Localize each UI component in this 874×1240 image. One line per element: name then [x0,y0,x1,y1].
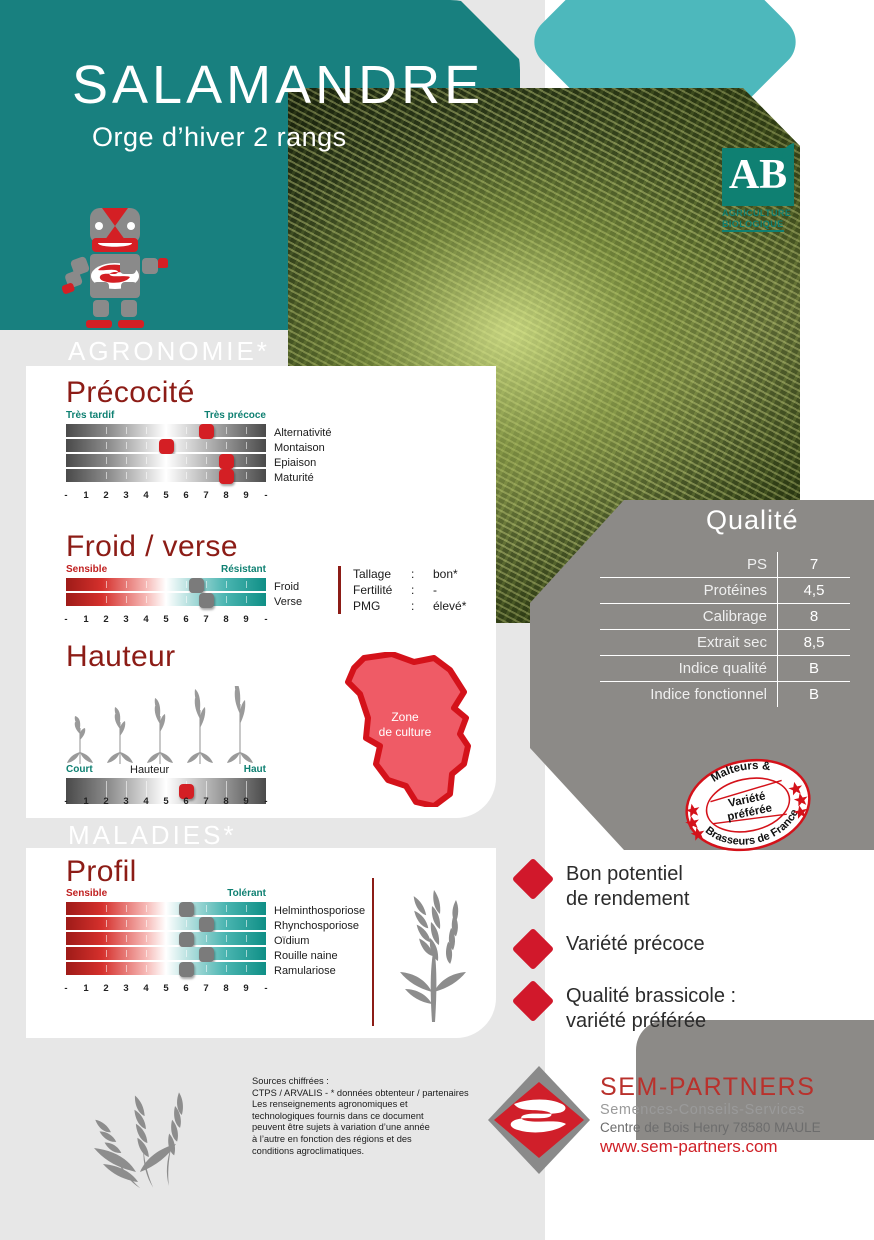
scale-row-label: Alternativité [274,426,331,441]
precocite-scale: Très tardif Très précoce -123456789- Alt… [66,410,266,484]
scale-number: 9 [243,796,248,807]
scale-ticks [66,424,266,437]
map-label-line1: Zone [355,710,455,725]
sources-line: Sources chiffrées : [252,1076,488,1088]
profil-endlabels: Sensible Tolérant [66,888,266,902]
profil-labels: HelminthosporioseRhynchosporioseOïdiumRo… [274,904,365,979]
hauteur-endlabels: Court Haut Hauteur [66,764,266,778]
scale-number: 3 [123,614,128,625]
froid-verse-end-right: Résistant [221,564,266,575]
scale-ticks [66,593,266,606]
page-title: SALAMANDRE [72,58,484,112]
scale-number: 8 [223,796,228,807]
key-points-list: Bon potentielde rendementVariété précoce… [518,862,848,1054]
froid-verse-rows [66,578,266,606]
scale-ticks [66,932,266,945]
scale-number: 2 [103,983,108,994]
malteurs-brasseurs-seal: Malteurs & Brasseurs de France Variété p… [668,752,828,858]
froid-verse-end-left: Sensible [66,564,107,575]
map-label: Zone de culture [355,710,455,740]
scale-number: 8 [223,614,228,625]
qualite-key: Indice qualité [600,656,777,681]
scale-row [66,932,266,945]
scale-ticks [66,469,266,482]
qualite-value: B [777,656,850,681]
scale-number: 7 [203,614,208,625]
diamond-bullet-icon [512,858,554,900]
scale-number: - [264,983,267,994]
company-address: Centre de Bois Henry 78580 MAULE [600,1119,821,1136]
key-point-text: Variété précoce [566,932,705,957]
footer-wheat-icon [66,1088,232,1188]
scale-number: 4 [143,490,148,501]
sources-line: conditions agroclimatiques. [252,1146,488,1158]
scale-row [66,962,266,975]
scale-row-label: Epiaison [274,456,331,471]
scale-row [66,578,266,591]
info-key: Fertilité [353,582,411,598]
key-point-item: Variété précoce [518,932,848,964]
info-key: Tallage [353,566,411,582]
profil-scale: Sensible Tolérant -123456789- Helminthos… [66,888,266,977]
map-label-line2: de culture [355,725,455,740]
qualite-row: Protéines4,5 [600,578,850,604]
scale-row [66,469,266,482]
froid-verse-labels: FroidVerse [274,580,302,610]
qualite-value: 4,5 [777,578,850,603]
scale-number: - [64,796,67,807]
key-point-text: Bon potentielde rendement [566,862,689,912]
qualite-title: Qualité [706,505,799,536]
scale-number: 6 [183,796,188,807]
scale-marker[interactable] [179,932,194,947]
qualite-value: B [777,682,850,707]
profil-heading: Profil [66,855,137,889]
scale-row-label: Maturité [274,471,331,486]
diamond-bullet-icon [512,928,554,970]
scale-marker[interactable] [199,917,214,932]
scale-row [66,947,266,960]
scale-number: 4 [143,796,148,807]
info-key: PMG [353,598,411,614]
company-name: SEM-PARTNERS [600,1074,821,1101]
scale-ticks [66,947,266,960]
page-subtitle: Orge d’hiver 2 rangs [92,122,347,153]
wheat-height-scale-icon [62,686,262,764]
leaf-icon [769,142,795,160]
scale-marker[interactable] [159,439,174,454]
qualite-row: Extrait sec8,5 [600,630,850,656]
qualite-key: Calibrage [600,604,777,629]
scale-row-label: Rhynchosporiose [274,919,365,934]
info-sep: : [411,598,433,614]
info-value: élevé* [433,599,466,613]
scale-number: 2 [103,796,108,807]
scale-number: 8 [223,983,228,994]
scale-number: - [264,796,267,807]
profil-end-right: Tolérant [227,888,266,899]
sem-partners-text-block: SEM-PARTNERS Semences-Conseils-Services … [600,1074,821,1157]
profil-end-left: Sensible [66,888,107,899]
agronomy-info-list: Tallage:bon*Fertilité:-PMG:élevé* [338,566,466,614]
hauteur-end-left: Court [66,764,93,775]
hauteur-end-center: Hauteur [130,764,169,776]
scale-number: 1 [83,490,88,501]
ab-logo-caption: AGRICULTURE BIOLOGIQUE [722,208,808,232]
scale-row [66,439,266,452]
scale-number: 9 [243,614,248,625]
scale-row-label: Oïdium [274,934,365,949]
scale-marker[interactable] [199,424,214,439]
scale-row-label: Montaison [274,441,331,456]
scale-ticks [66,454,266,467]
qualite-row: Calibrage8 [600,604,850,630]
hauteur-end-right: Haut [244,764,266,775]
hauteur-heading: Hauteur [66,640,176,674]
info-line: Tallage:bon* [353,566,466,582]
company-website[interactable]: www.sem-partners.com [600,1136,821,1157]
scale-number: - [264,490,267,501]
scale-number: 7 [203,983,208,994]
qualite-key: PS [600,552,777,577]
scale-marker[interactable] [179,962,194,977]
qualite-row: Indice qualitéB [600,656,850,682]
precocite-heading: Précocité [66,376,195,410]
datasheet-page: SALAMANDRE Orge d’hiver 2 rangs AB AGRIC… [0,0,874,1240]
precocite-end-left: Très tardif [66,410,114,421]
scale-number: 6 [183,490,188,501]
sources-text: Sources chiffrées :CTPS / ARVALIS - * do… [252,1076,488,1157]
scale-ticks [66,917,266,930]
sources-line: technologiques fournis dans ce document [252,1111,488,1123]
key-point-item: Bon potentielde rendement [518,862,848,912]
scale-number: 2 [103,490,108,501]
ab-caption-line2: BIOLOGIQUE [722,219,784,232]
scale-number: 5 [163,490,168,501]
scale-row-label: Verse [274,595,302,610]
qualite-row: Indice fonctionnelB [600,682,850,707]
diamond-bullet-icon [512,980,554,1022]
qualite-value: 8 [777,604,850,629]
scale-number: 9 [243,490,248,501]
scale-number: 1 [83,796,88,807]
froid-verse-endlabels: Sensible Résistant [66,564,266,578]
ab-caption-line1: AGRICULTURE [722,208,808,219]
info-sep: : [411,582,433,598]
scale-number: 5 [163,796,168,807]
scale-number: 3 [123,983,128,994]
scale-marker[interactable] [219,454,234,469]
precocite-end-right: Très précoce [204,410,266,421]
scale-row [66,454,266,467]
scale-number: 3 [123,490,128,501]
sources-line: à l’autre en fonction des régions et des [252,1134,488,1146]
scale-number: 4 [143,614,148,625]
scale-ticks [66,962,266,975]
info-sep: : [411,566,433,582]
info-line: PMG:élevé* [353,598,466,614]
scale-number: 3 [123,796,128,807]
scale-number: 4 [143,983,148,994]
scale-number: 6 [183,614,188,625]
section-band-maladies: MALADIES* [68,820,237,851]
scale-marker[interactable] [189,578,204,593]
froid-verse-heading: Froid / verse [66,530,238,564]
qualite-key: Extrait sec [600,630,777,655]
scale-row [66,593,266,606]
scale-number: - [64,490,67,501]
company-tagline: Semences-Conseils-Services [600,1101,821,1119]
qualite-key: Protéines [600,578,777,603]
scale-number: 6 [183,983,188,994]
scale-row-label: Ramulariose [274,964,365,979]
scale-marker[interactable] [179,902,194,917]
scale-ticks [66,578,266,591]
ab-organic-logo: AB AGRICULTURE BIOLOGIQUE [722,148,814,240]
scale-row [66,902,266,915]
hauteur-scale: Court Haut Hauteur -123456789- [66,764,266,806]
info-value: bon* [433,567,458,581]
scale-number: 5 [163,614,168,625]
qualite-row: PS7 [600,552,850,578]
scale-number: 1 [83,614,88,625]
qualite-key: Indice fonctionnel [600,682,777,707]
profil-divider [372,878,374,1026]
scale-number: 5 [163,983,168,994]
scale-number: 7 [203,796,208,807]
scale-number: 7 [203,490,208,501]
qualite-value: 8,5 [777,630,850,655]
precocite-labels: AlternativitéMontaisonEpiaisonMaturité [274,426,331,486]
key-point-item: Qualité brassicole :variété préférée [518,984,848,1034]
scale-ticks [66,902,266,915]
sources-line: peuvent être sujets à variation d’une an… [252,1122,488,1134]
scale-number: - [264,614,267,625]
info-value: - [433,583,437,597]
precocite-rows [66,424,266,482]
scale-number: - [64,614,67,625]
scale-row [66,917,266,930]
froid-verse-scale: Sensible Résistant -123456789- FroidVers… [66,564,266,608]
sources-line: CTPS / ARVALIS - * données obtenteur / p… [252,1088,488,1100]
scale-row-label: Froid [274,580,302,595]
precocite-endlabels: Très tardif Très précoce [66,410,266,424]
qualite-value: 7 [777,552,850,577]
key-point-text: Qualité brassicole :variété préférée [566,984,736,1034]
scale-number: 9 [243,983,248,994]
scale-marker[interactable] [199,947,214,962]
section-band-agronomie: AGRONOMIE* [68,336,270,367]
scale-marker[interactable] [219,469,234,484]
qualite-table: PS7Protéines4,5Calibrage8Extrait sec8,5I… [600,552,850,707]
scale-marker[interactable] [199,593,214,608]
info-line: Fertilité:- [353,582,466,598]
scale-row [66,424,266,437]
scale-number: 2 [103,614,108,625]
robot-mascot-icon [62,196,168,330]
sem-partners-logo-icon [484,1064,594,1176]
sources-line: Les renseignements agronomiques et [252,1099,488,1111]
wheat-cluster-icon [386,884,482,1024]
profil-rows [66,902,266,975]
scale-number: 8 [223,490,228,501]
scale-number: 1 [83,983,88,994]
scale-row-label: Helminthosporiose [274,904,365,919]
scale-number: - [64,983,67,994]
scale-row-label: Rouille naine [274,949,365,964]
